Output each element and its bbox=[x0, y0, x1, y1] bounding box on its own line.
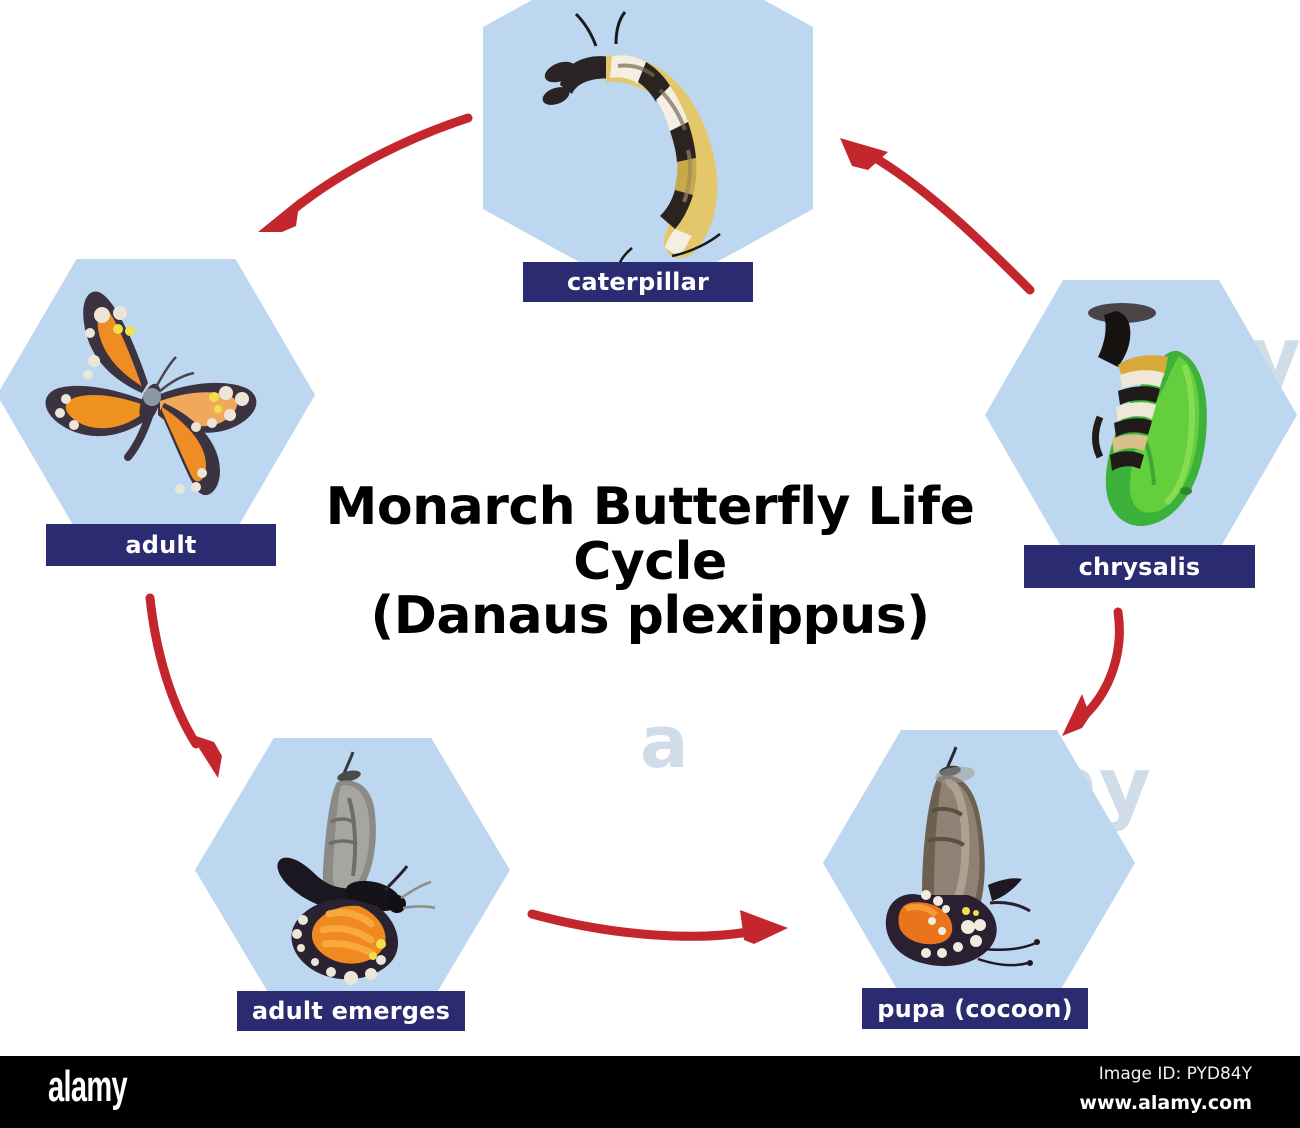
arrow-emerges-to-pupa bbox=[532, 910, 788, 944]
life-cycle-diagram: a a a a alamy alamy caterpillar bbox=[0, 0, 1300, 1128]
website-url[interactable]: www.alamy.com bbox=[1079, 1092, 1252, 1114]
arrow-caterpillar-to-adult bbox=[258, 118, 468, 232]
arrow-adult-to-emerges bbox=[150, 598, 222, 778]
footer-bar: alamy Image ID: PYD84Y www.alamy.com bbox=[0, 1056, 1300, 1128]
arrow-chrysalis-to-pupa bbox=[1062, 612, 1119, 736]
arrow-layer bbox=[0, 0, 1300, 1128]
image-id-text: Image ID: PYD84Y bbox=[1099, 1064, 1252, 1084]
arrow-chrysalis-to-caterpillar bbox=[840, 138, 1030, 290]
alamy-logo: alamy bbox=[48, 1062, 127, 1112]
